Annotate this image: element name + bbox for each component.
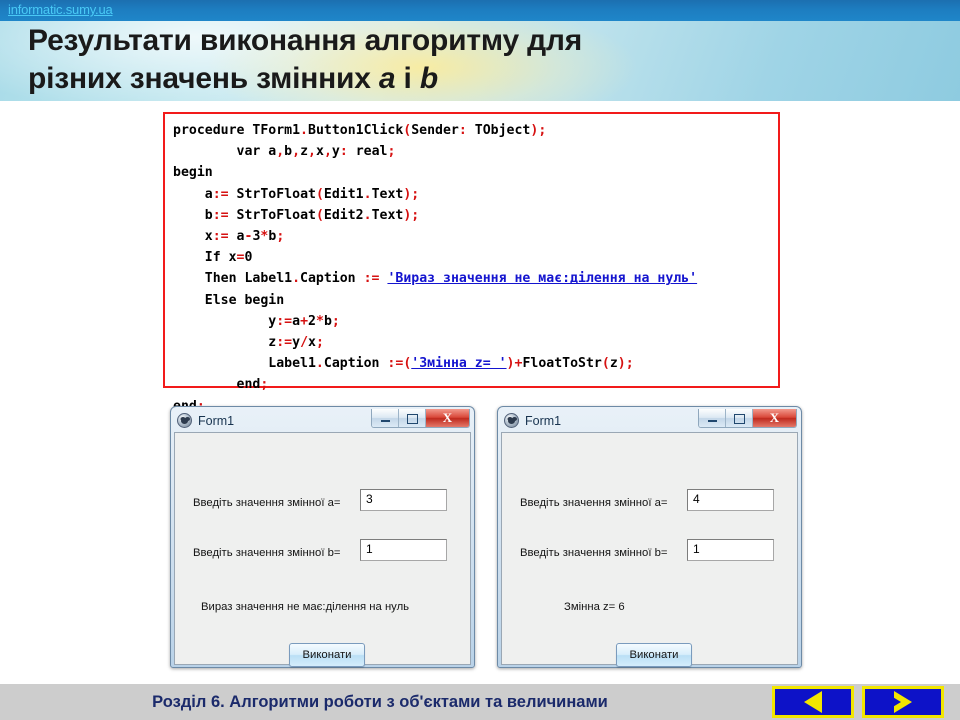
page-title: Результати виконання алгоритму для різни… [28, 22, 928, 98]
maximize-button[interactable] [399, 409, 426, 427]
slide-root: informatic.sumy.ua Результати виконання … [0, 0, 960, 720]
label-variable-b: Введіть значення змінної b= [193, 547, 340, 559]
label-variable-a: Введіть значення змінної a= [193, 497, 340, 509]
input-variable-b[interactable]: 1 [360, 539, 447, 561]
window-controls: X [371, 409, 470, 428]
app-icon [504, 413, 519, 428]
result-label: Змінна z= 6 [564, 601, 625, 613]
title-conjunction: і [395, 62, 419, 95]
window-controls: X [698, 409, 797, 428]
form-window-left[interactable]: Form1 X Введіть значення змінної a= 3 Вв… [170, 406, 475, 668]
title-bar: Form1 X [174, 409, 471, 432]
next-slide-button[interactable] [862, 686, 944, 718]
title-var-a: a [379, 62, 396, 95]
title-bar: Form1 X [501, 409, 798, 432]
maximize-button[interactable] [726, 409, 753, 427]
close-button[interactable]: X [753, 409, 796, 427]
minimize-button[interactable] [699, 409, 726, 427]
window-client-area: Введіть значення змінної a= 3 Введіть зн… [174, 432, 471, 665]
title-line-1: Результати виконання алгоритму для [28, 24, 582, 57]
window-title: Form1 [525, 414, 561, 428]
input-variable-a[interactable]: 4 [687, 489, 774, 511]
input-variable-b[interactable]: 1 [687, 539, 774, 561]
window-client-area: Введіть значення змінної a= 4 Введіть зн… [501, 432, 798, 665]
form-window-right[interactable]: Form1 X Введіть значення змінної a= 4 Вв… [497, 406, 802, 668]
site-link[interactable]: informatic.sumy.ua [8, 2, 113, 17]
input-variable-a[interactable]: 3 [360, 489, 447, 511]
result-label: Вираз значення не має:ділення на нуль [201, 601, 409, 613]
app-icon [177, 413, 192, 428]
footer-bar: Розділ 6. Алгоритми роботи з об'єктами т… [0, 684, 960, 720]
title-line-2-prefix: різних значень змінних [28, 62, 379, 95]
title-var-b: b [420, 62, 438, 95]
triangle-left-icon [804, 691, 822, 713]
close-button[interactable]: X [426, 409, 469, 427]
window-title: Form1 [198, 414, 234, 428]
execute-button[interactable]: Виконати [616, 643, 692, 667]
execute-button[interactable]: Виконати [289, 643, 365, 667]
code-block: procedure TForm1.Button1Click(Sender: TO… [163, 112, 780, 388]
footer-text: Розділ 6. Алгоритми роботи з об'єктами т… [0, 684, 760, 720]
label-variable-b: Введіть значення змінної b= [520, 547, 667, 559]
label-variable-a: Введіть значення змінної a= [520, 497, 667, 509]
previous-slide-button[interactable] [772, 686, 854, 718]
top-banner: informatic.sumy.ua [0, 0, 960, 21]
code-lines: procedure TForm1.Button1Click(Sender: TO… [165, 114, 778, 417]
triangle-right-icon [894, 691, 912, 713]
title-block: Результати виконання алгоритму для різни… [0, 21, 960, 101]
minimize-button[interactable] [372, 409, 399, 427]
